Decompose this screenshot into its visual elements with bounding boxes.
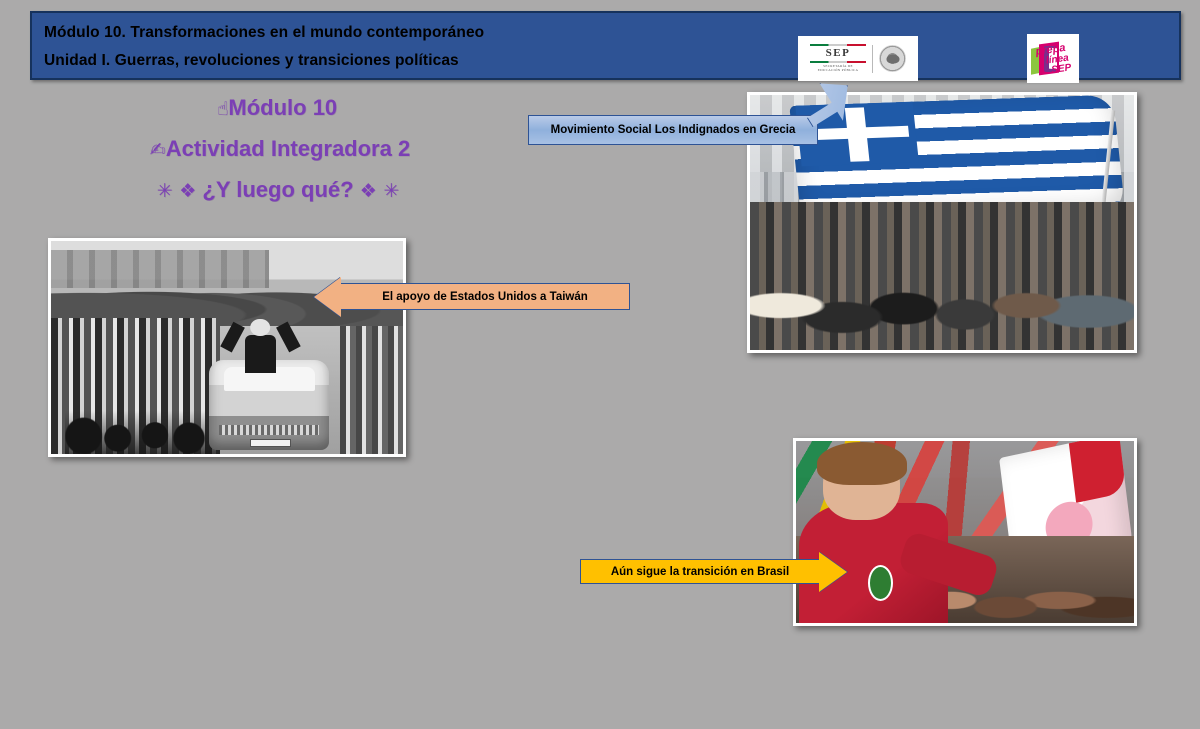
greece-photo-crowd (750, 202, 1134, 350)
sep-logo-wordmark: SEP SECRETARÍA DE EDUCACIÓN PÚBLICA (810, 44, 866, 73)
sep-logo-inner: SEP SECRETARÍA DE EDUCACIÓN PÚBLICA (810, 44, 906, 73)
title-line-question: ✳ ❖ ¿Y luego qué? ❖ ✳ (60, 170, 490, 211)
parade-waving-figure (245, 335, 277, 373)
callout-taiwan-label: El apoyo de Estados Unidos a Taiwán (341, 291, 629, 303)
callout-brazil: Aún sigue la transición en Brasil (580, 559, 820, 584)
title-line-module: ☝Módulo 10 (60, 88, 490, 129)
title-line-activity: ✍Actividad Integradora 2 (60, 129, 490, 170)
parade-car-grille (219, 425, 320, 436)
sep-logo-text: SEP (810, 48, 866, 59)
brazil-banner-red-block (1068, 438, 1126, 503)
prepa-en-linea-sep-logo: prepa línea SEP (1027, 34, 1079, 83)
mexican-coat-of-arms-icon (879, 45, 906, 72)
sep-tricolor-rule-bottom (810, 61, 866, 63)
writing-hand-icon: ✍ (150, 139, 166, 161)
callout-taiwan-arrow-icon (314, 277, 341, 317)
header-line-module: Módulo 10. Transformaciones en el mundo … (44, 19, 484, 47)
sep-logo-subtitle-2: EDUCACIÓN PÚBLICA (810, 68, 866, 73)
title-line-activity-text: Actividad Integradora 2 (166, 136, 411, 161)
callout-brazil-label: Aún sigue la transición en Brasil (581, 566, 819, 578)
brazil-politician-badge (868, 565, 893, 601)
parade-photo-motorcycle-escort (65, 382, 220, 454)
prepa-logo-wordmark: prepa línea SEP (1035, 41, 1079, 78)
page-title: ☝Módulo 10 ✍Actividad Integradora 2 ✳ ❖ … (60, 88, 490, 211)
header-bar: Módulo 10. Transformaciones en el mundo … (30, 11, 1181, 80)
parade-photo-crowd-right (340, 326, 403, 454)
star-diamond-left-icon: ✳ ❖ (157, 180, 197, 202)
parade-photo-convertible-car (209, 360, 329, 449)
pointing-hand-icon: ☝ (217, 98, 229, 120)
callout-taiwan: El apoyo de Estados Unidos a Taiwán (340, 283, 630, 310)
callout-greece-arrow-icon (815, 93, 867, 169)
callout-greece: Movimiento Social Los Indignados en Grec… (528, 115, 818, 145)
callout-greece-label: Movimiento Social Los Indignados en Grec… (529, 124, 817, 136)
brazil-politician-head (823, 450, 900, 520)
title-line-question-text: ¿Y luego qué? (202, 177, 353, 202)
brazil-politician-hair (817, 442, 907, 485)
parade-car-license-plate (250, 439, 291, 447)
header-title-group: Módulo 10. Transformaciones en el mundo … (44, 19, 484, 75)
sep-tricolor-rule-top (810, 44, 866, 46)
callout-brazil-arrow-icon (819, 552, 847, 592)
photo-motorcade-parade (48, 238, 406, 457)
slide-canvas: Módulo 10. Transformaciones en el mundo … (0, 0, 1200, 729)
title-line-module-text: Módulo 10 (228, 95, 337, 120)
header-line-unit: Unidad I. Guerras, revoluciones y transi… (44, 47, 484, 75)
photo-brazil-rally (793, 438, 1137, 626)
sep-logo: SEP SECRETARÍA DE EDUCACIÓN PÚBLICA (798, 36, 918, 81)
sep-logo-divider (872, 45, 873, 73)
star-diamond-right-icon: ❖ ✳ (360, 180, 400, 202)
